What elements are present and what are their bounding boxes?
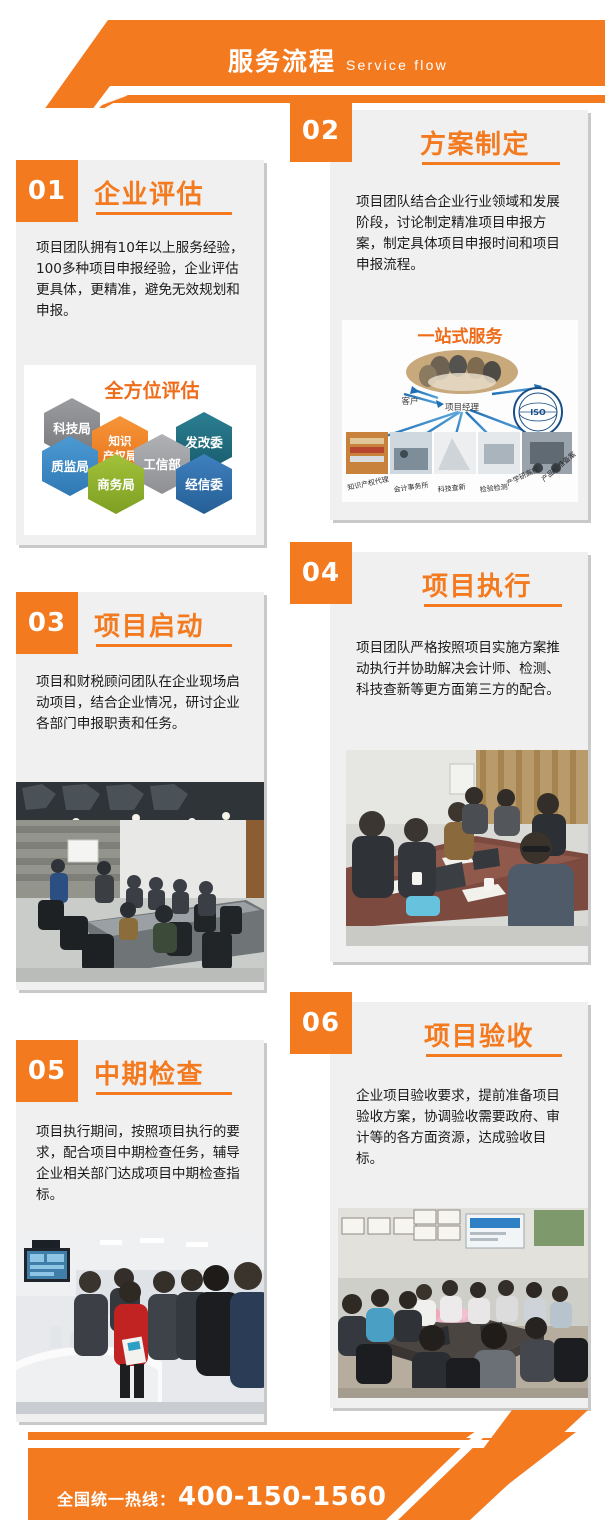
svg-text:工信部: 工信部 [143,457,181,472]
step-title-02: 方案制定 [420,124,530,161]
step-card-03[interactable]: 03 项目启动 项目和财税顾问团队在企业现场启动项目，结合企业情况，研讨企业各部… [16,592,264,990]
step-number-badge-05: 05 [16,1040,78,1102]
page-footer: 全国统一热线： 400-150-1560 [0,1410,605,1538]
photo-conference-06 [338,1208,588,1398]
step-number-badge-01: 01 [16,160,78,222]
page-title: 服务流程 [228,42,336,78]
title-underline-03 [96,644,232,647]
svg-text:质监局: 质监局 [51,459,89,474]
step-number-badge-04: 04 [290,542,352,604]
photo-work-session-04 [346,750,588,946]
svg-text:经信委: 经信委 [185,477,223,492]
photo-site-visit-05 [16,1234,264,1414]
onestop-label-client: 客户 [401,396,418,407]
page-header: 服务流程 Service flow [0,0,605,108]
title-underline-01 [96,212,232,215]
onestop-seal: ISO [514,388,562,436]
step-card-05[interactable]: 05 中期检查 项目执行期间，按照项目执行的要求，配合项目中期检查任务，辅导企业… [16,1040,264,1422]
hex-diagram-01: 全方位评估 科技局 知识 产权局 发改委 [24,365,256,535]
svg-text:商务局: 商务局 [97,477,135,492]
svg-text:发改委: 发改委 [184,435,223,450]
title-underline-06 [426,1054,562,1057]
step-card-02[interactable]: 02 方案制定 项目团队结合企业行业领域和发展阶段，讨论制定精准项目申报方案，制… [330,110,588,520]
step-number-badge-06: 06 [290,992,352,1054]
onestop-top-photo [406,350,518,394]
step-body-04: 项目团队严格按照项目实施方案推动执行并协助解决会计师、检测、科技查新等更方面第三… [356,638,568,701]
service-flow-poster: 服务流程 Service flow 01 企业评估 项目团队拥有10年以上服务经… [0,0,605,1538]
step-number-badge-03: 03 [16,592,78,654]
title-underline-02 [422,162,560,165]
step-card-01[interactable]: 01 企业评估 项目团队拥有10年以上服务经验，100多种项目申报经验，企业评估… [16,160,264,545]
step-title-04: 项目执行 [422,566,532,603]
onestop-label-pm: 项目经理 [445,402,480,413]
svg-text:知识: 知识 [108,434,132,448]
step-title-03: 项目启动 [94,606,204,643]
photo-meeting-room-03 [16,782,264,982]
onestop-service-thumbnails [346,432,572,474]
hotline-label: 全国统一热线： [57,1486,176,1510]
step-body-05: 项目执行期间，按照项目执行的要求，配合项目中期检查任务，辅导企业相关部门达成项目… [36,1122,248,1206]
step-title-06: 项目验收 [424,1016,534,1053]
title-underline-04 [424,604,562,607]
step-title-05: 中期检查 [94,1054,204,1091]
onestop-diagram-02: 一站式服务 [342,320,578,502]
step-body-03: 项目和财税顾问团队在企业现场启动项目，结合企业情况，研讨企业各部门申报职责和任务… [36,672,248,735]
header-title-group: 服务流程 Service flow [228,42,448,78]
step-title-01: 企业评估 [94,174,204,211]
step-body-01: 项目团队拥有10年以上服务经验，100多种项目申报经验，企业评估更具体，更精准，… [36,238,248,322]
onestop-diagram-title: 一站式服务 [418,326,504,347]
hotline-group: 全国统一热线： 400-150-1560 [57,1482,387,1512]
step-body-06: 企业项目验收要求，提前准备项目验收方案，协调验收需要政府、审计等的各方面资源，达… [356,1086,568,1170]
svg-text:ISO: ISO [530,408,546,417]
page-subtitle: Service flow [346,57,448,73]
title-underline-05 [96,1092,232,1095]
step-card-06[interactable]: 06 项目验收 企业项目验收要求，提前准备项目验收方案，协调验收需要政府、审计等… [330,1002,588,1408]
footer-banner-shape [0,1410,605,1538]
step-number-badge-02: 02 [290,100,352,162]
step-body-02: 项目团队结合企业行业领域和发展阶段，讨论制定精准项目申报方案，制定具体项目申报时… [356,192,568,276]
hex-diagram-title: 全方位评估 [103,379,199,402]
svg-text:科技局: 科技局 [53,421,91,436]
step-card-04[interactable]: 04 项目执行 项目团队严格按照项目实施方案推动执行并协助解决会计师、检测、科技… [330,552,588,962]
hotline-number[interactable]: 400-150-1560 [178,1482,387,1512]
